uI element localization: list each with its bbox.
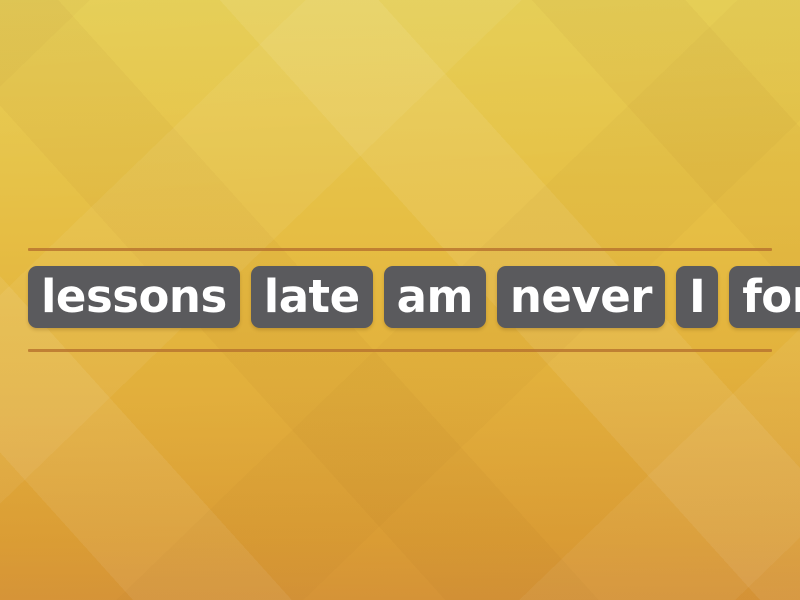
strip-bottom-rule (28, 349, 772, 352)
activity-screen: lessons late am never I for (0, 0, 800, 600)
word-tile-label: late (264, 274, 360, 319)
word-tile[interactable]: late (251, 266, 373, 328)
answer-strip: lessons late am never I for (28, 246, 772, 354)
word-tile-row: lessons late am never I for (28, 266, 800, 328)
word-tile-label: I (689, 274, 705, 319)
word-tile[interactable]: am (384, 266, 486, 328)
word-tile[interactable]: for (729, 266, 800, 328)
word-tile[interactable]: never (497, 266, 665, 328)
word-tile[interactable]: lessons (28, 266, 240, 328)
word-tile[interactable]: I (676, 266, 718, 328)
word-tile-label: am (397, 274, 473, 319)
word-tile-label: lessons (41, 274, 227, 319)
strip-top-rule (28, 248, 772, 251)
word-tile-label: for (742, 274, 800, 319)
word-tile-label: never (510, 274, 652, 319)
